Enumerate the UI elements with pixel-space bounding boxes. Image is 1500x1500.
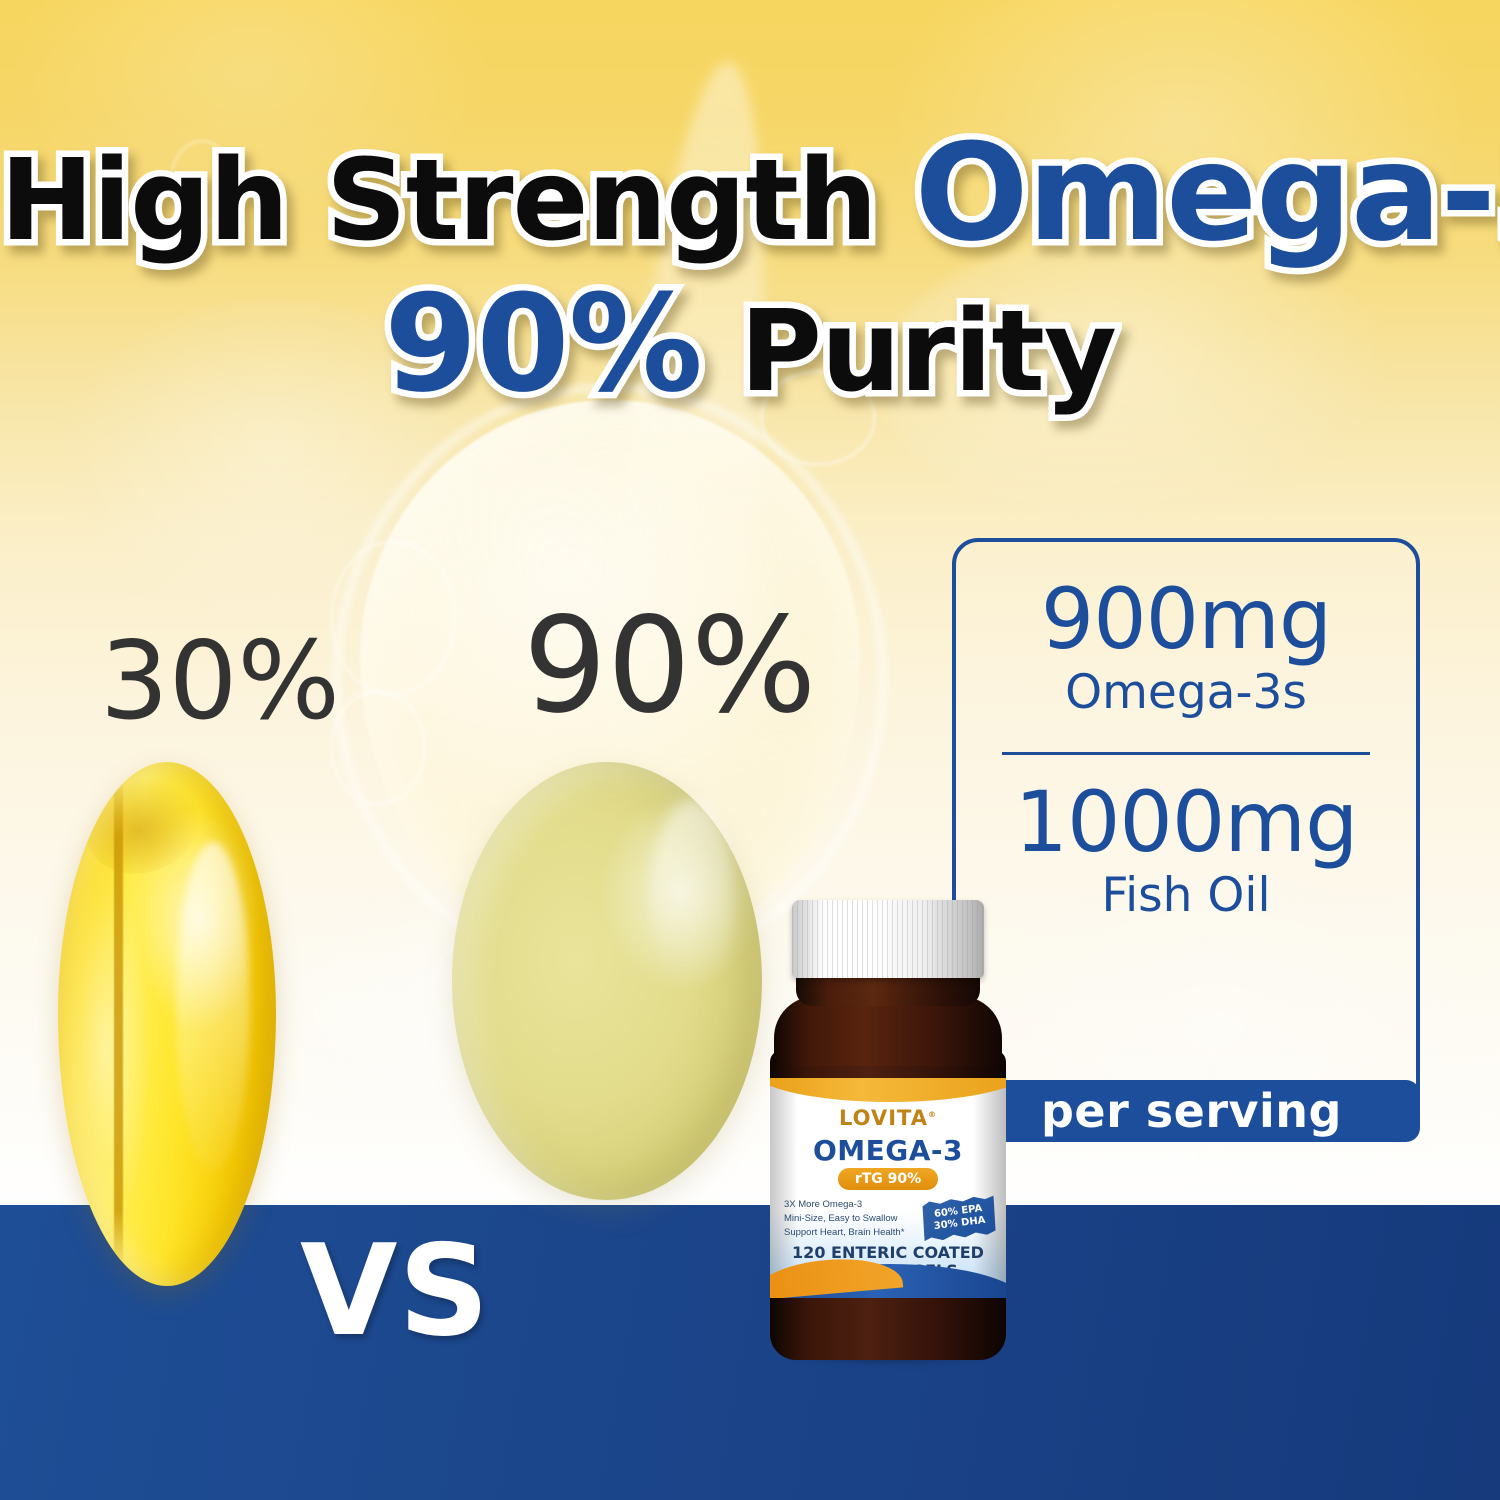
bottle-label: LOVITA® OMEGA-3 rTG 90% 3X More Omega-3 … (770, 1078, 1006, 1298)
registered-mark: ® (928, 1110, 937, 1119)
omega3-amount-label: Omega-3s (1065, 668, 1307, 717)
label-top-gold-arc (770, 1078, 1006, 1102)
epa-dha-badge: 60% EPA 30% DHA (920, 1194, 998, 1243)
bottom-blue-band (0, 1205, 1500, 1500)
brand-text: LOVITA (839, 1106, 928, 1130)
product-bottle: LOVITA® OMEGA-3 rTG 90% 3X More Omega-3 … (766, 900, 1008, 1360)
oil-bubble (330, 540, 456, 696)
label-30-percent: 30% (100, 628, 340, 736)
brand-name: LOVITA® (770, 1106, 1006, 1130)
per-serving-label: per serving (1041, 1084, 1342, 1138)
label-bullets: 3X More Omega-3 Mini-Size, Easy to Swall… (784, 1198, 914, 1239)
count-line-1: 120 ENTERIC COATED (770, 1244, 1006, 1262)
oil-bubble (330, 690, 426, 806)
product-name: OMEGA-3 (770, 1134, 1006, 1167)
bullet-item: 3X More Omega-3 (784, 1198, 914, 1212)
softgel-highlight (650, 800, 734, 990)
bottle-cap (792, 900, 984, 978)
bullet-item: Mini-Size, Easy to Swallow (784, 1212, 914, 1226)
headline-high-strength: High Strength (0, 144, 877, 258)
bullet-item: Support Heart, Brain Health* (784, 1226, 914, 1240)
serving-info-card: 900mg Omega-3s 1000mg Fish Oil (952, 538, 1420, 1118)
label-90-percent: 90% (523, 600, 816, 732)
page-title: High Strength Omega-3 90% Purity (0, 125, 1500, 412)
omega3-amount: 900mg (1041, 578, 1331, 660)
softgel-highlight (176, 842, 250, 1172)
headline-90-percent: 90% (384, 276, 702, 413)
softgel-30-percent (58, 762, 276, 1286)
headline-omega3: Omega-3 (915, 125, 1500, 262)
bottle-neck (796, 974, 980, 1006)
bottle-shoulder (774, 996, 1002, 1066)
rtg-badge: rTG 90% (838, 1168, 938, 1190)
headline-purity: Purity (740, 295, 1116, 409)
vs-label: VS (300, 1228, 490, 1354)
card-divider (1002, 752, 1370, 755)
fishoil-amount-label: Fish Oil (1102, 871, 1271, 920)
fishoil-amount: 1000mg (1015, 781, 1358, 863)
product-infographic: High Strength Omega-3 90% Purity 30% 90%… (0, 0, 1500, 1500)
